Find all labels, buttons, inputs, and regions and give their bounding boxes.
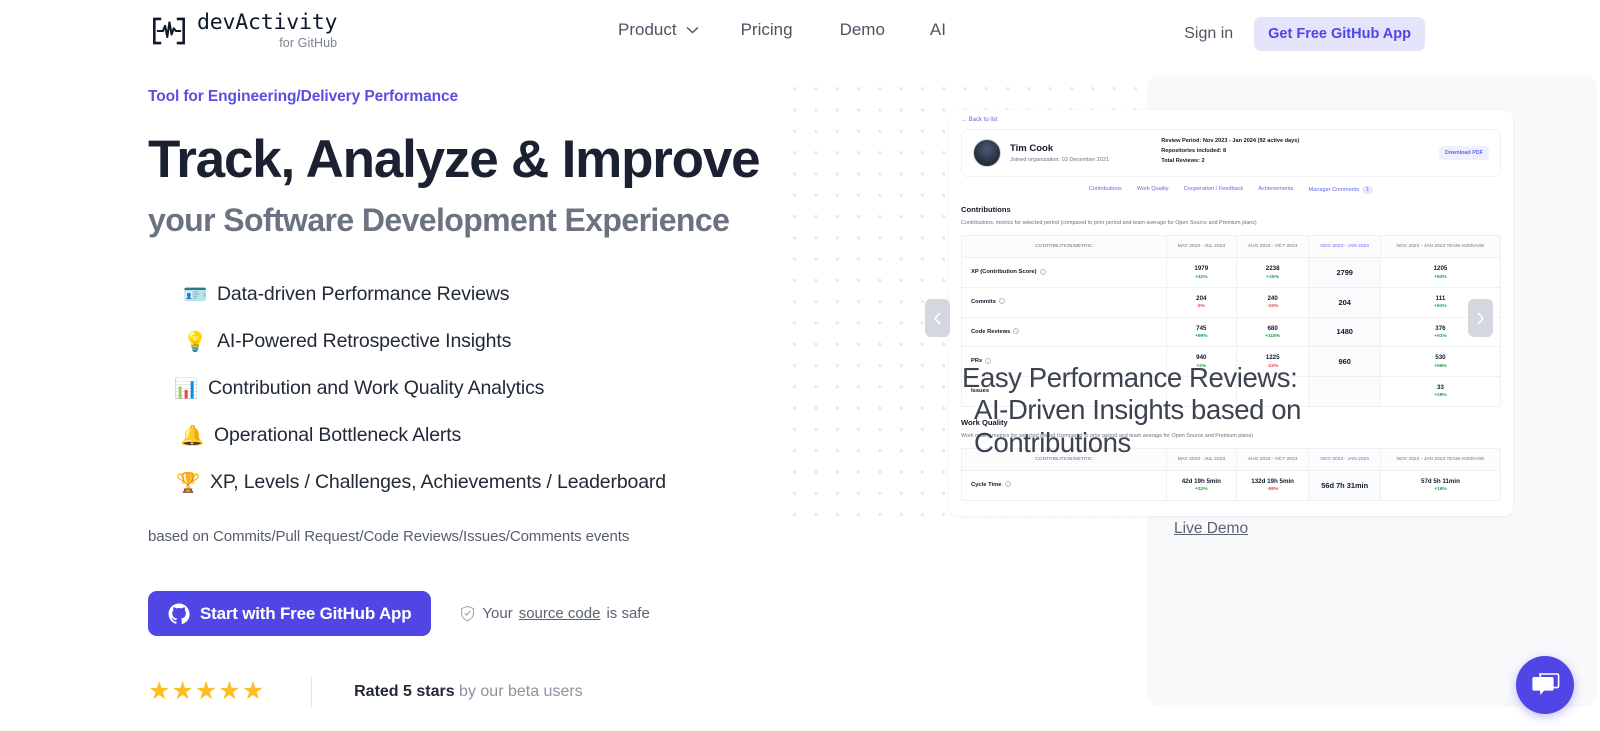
table-row: Issues 33+28% xyxy=(962,376,1501,406)
logo-name: devActivity xyxy=(197,12,337,34)
cell-team-avg: 530+56% xyxy=(1380,347,1500,377)
chevron-down-icon xyxy=(686,26,699,34)
cell-period-1: 42d 19h 5min+32% xyxy=(1166,471,1236,501)
cell-current xyxy=(1309,376,1380,406)
rating-text: Rated 5 stars by our beta users xyxy=(354,683,583,701)
row-metric-name: Issues xyxy=(962,376,1167,406)
table-row: Commitsi 2040% 240-15% 204 111+61% xyxy=(962,288,1501,318)
page-title: Track, Analyze & Improve xyxy=(148,132,788,188)
cell-period-2: 1225-22% xyxy=(1236,347,1309,377)
nav-label: AI xyxy=(930,20,946,40)
lightbulb-icon: 💡 xyxy=(184,330,206,354)
col-metric: CONTRIBUTION/METRIC xyxy=(962,448,1167,470)
cell-period-2: 240-15% xyxy=(1236,288,1309,318)
chat-widget-button[interactable] xyxy=(1516,656,1574,714)
row-metric-name: Code Reviewsi xyxy=(962,317,1167,347)
col-period-1: MAY 2023 - JUL 2023 xyxy=(1166,448,1236,470)
star-rating: ★ ★ ★ ★ ★ xyxy=(148,679,264,704)
profile-meta: Review Period: Nov 2023 - Jan 2024 (92 a… xyxy=(1161,138,1299,168)
demo-tabs: Contributions Work Quality Cooperation /… xyxy=(961,186,1501,194)
col-period-2: AUG 2023 - OCT 2023 xyxy=(1236,236,1309,258)
nav-item-pricing[interactable]: Pricing xyxy=(741,20,840,40)
row-metric-name: Cycle Timei xyxy=(962,471,1167,501)
col-period-current: NOV 2023 - JAN 2024 xyxy=(1309,448,1380,470)
section-title-contributions: Contributions xyxy=(961,205,1501,214)
nav-item-ai[interactable]: AI xyxy=(930,20,970,40)
profile-name: Tim Cook xyxy=(1010,143,1109,154)
landing-page: devActivity for GitHub Product Pricing D… xyxy=(0,0,1600,731)
nav-label: Pricing xyxy=(741,20,793,40)
table-row: XP (Contribution Score)i 1979+41% 2238+2… xyxy=(962,258,1501,288)
list-item: 📊 Contribution and Work Quality Analytic… xyxy=(148,365,788,412)
profile-summary: Tim Cook Joined organization: 03 Decembe… xyxy=(961,129,1501,177)
info-icon: i xyxy=(1005,481,1011,487)
profile-joined: Joined organization: 03 December 2021 xyxy=(1010,157,1109,163)
info-icon: i xyxy=(985,358,991,364)
section-description: Contributions, metrics for selected peri… xyxy=(961,220,1501,226)
cell-period-1: 745+99% xyxy=(1166,317,1236,347)
id-badge-icon: 🪪 xyxy=(184,283,206,307)
table-header-row: CONTRIBUTION/METRIC MAY 2023 - JUL 2023 … xyxy=(962,236,1501,258)
activity-pulse-icon xyxy=(150,16,188,46)
live-demo-link[interactable]: Live Demo xyxy=(1174,520,1248,538)
page-subtitle: your Software Development Experience xyxy=(148,202,788,239)
hero-content: Tool for Engineering/Delivery Performanc… xyxy=(148,88,788,707)
download-pdf-button: Download PDF xyxy=(1439,146,1489,160)
cell-current: 56d 7h 31min xyxy=(1309,471,1380,501)
star-icon: ★ xyxy=(148,679,170,704)
row-metric-name: PRsi xyxy=(962,347,1167,377)
info-icon: i xyxy=(999,298,1005,304)
nav-item-product[interactable]: Product xyxy=(618,20,741,40)
cell-period-2 xyxy=(1236,376,1309,406)
bell-alert-icon: 🔔 xyxy=(181,424,203,448)
star-icon: ★ xyxy=(242,679,264,704)
cell-period-2: 132d 19h 5min-58% xyxy=(1236,471,1309,501)
sign-in-link[interactable]: Sign in xyxy=(1184,25,1233,43)
cell-period-2: 2238+25% xyxy=(1236,258,1309,288)
cell-period-1: 940+2% xyxy=(1166,347,1236,377)
table-row: PRsi 940+2% 1225-22% 960 530+56% xyxy=(962,347,1501,377)
star-icon: ★ xyxy=(195,679,217,704)
col-metric: CONTRIBUTION/METRIC xyxy=(962,236,1167,258)
safe-prefix: Your xyxy=(482,605,512,622)
review-period: Review Period: Nov 2023 - Jan 2024 (92 a… xyxy=(1161,138,1299,144)
avatar xyxy=(973,139,1001,167)
header-actions: Sign in Get Free GitHub App xyxy=(1184,17,1425,51)
start-with-free-github-app-button[interactable]: Start with Free GitHub App xyxy=(148,591,431,636)
chevron-right-icon xyxy=(1475,311,1486,326)
contributions-table: CONTRIBUTION/METRIC MAY 2023 - JUL 2023 … xyxy=(961,235,1501,407)
section2-description: Work quality metrics for selected period… xyxy=(961,433,1501,439)
logo[interactable]: devActivity for GitHub xyxy=(150,12,337,49)
list-item: 💡 AI-Powered Retrospective Insights xyxy=(148,318,788,365)
cell-current: 2799 xyxy=(1309,258,1380,288)
demo-screenshot-card[interactable]: ← Back to list Tim Cook Joined organizat… xyxy=(949,110,1513,516)
star-icon: ★ xyxy=(171,679,193,704)
nav-label: Product xyxy=(618,20,677,40)
source-code-link[interactable]: source code xyxy=(519,605,601,622)
cell-current: 960 xyxy=(1309,347,1380,377)
work-quality-table: CONTRIBUTION/METRIC MAY 2023 - JUL 2023 … xyxy=(961,448,1501,501)
rating-bold: Rated 5 stars xyxy=(354,683,455,700)
divider xyxy=(311,676,312,707)
main-nav: Product Pricing Demo AI xyxy=(618,20,970,40)
tab-manager-comments: Manager Comments1 xyxy=(1308,186,1373,194)
comment-count-badge: 1 xyxy=(1362,186,1373,194)
repositories-included: Repositories included: 8 xyxy=(1161,148,1299,154)
tab-contributions: Contributions xyxy=(1089,186,1122,194)
row-metric-name: XP (Contribution Score)i xyxy=(962,258,1167,288)
cell-period-2: 680+118% xyxy=(1236,317,1309,347)
bar-chart-icon: 📊 xyxy=(175,377,197,401)
github-icon xyxy=(168,603,190,625)
feature-label: Data-driven Performance Reviews xyxy=(217,283,509,306)
tab-work-quality: Work Quality xyxy=(1137,186,1169,194)
table-row: Code Reviewsi 745+99% 680+118% 1480 376+… xyxy=(962,317,1501,347)
col-period-current: NOV 2023 - JAN 2024 xyxy=(1309,236,1380,258)
cell-period-1: 2040% xyxy=(1166,288,1236,318)
cell-current: 1480 xyxy=(1309,317,1380,347)
chat-bubble-icon xyxy=(1530,671,1560,699)
safe-suffix: is safe xyxy=(606,605,649,622)
star-icon: ★ xyxy=(218,679,240,704)
list-item: 🔔 Operational Bottleneck Alerts xyxy=(148,412,788,459)
table-row: Cycle Timei 42d 19h 5min+32% 132d 19h 5m… xyxy=(962,471,1501,501)
col-team-average: NOV 2023 - JAN 2024 TEAM AVERAGE xyxy=(1380,448,1500,470)
carousel-prev-button[interactable] xyxy=(925,299,950,337)
nav-item-demo[interactable]: Demo xyxy=(840,20,930,40)
trophy-icon: 🏆 xyxy=(177,471,199,495)
cta-row: Start with Free GitHub App Your source c… xyxy=(148,591,788,636)
row-metric-name: Commitsi xyxy=(962,288,1167,318)
feature-label: Operational Bottleneck Alerts xyxy=(214,424,461,447)
site-header: devActivity for GitHub Product Pricing D… xyxy=(0,0,1600,66)
rating-row: ★ ★ ★ ★ ★ Rated 5 stars by our beta user… xyxy=(148,676,788,707)
hero-eyebrow: Tool for Engineering/Delivery Performanc… xyxy=(148,88,788,106)
cell-team-avg: 57d 5h 11min+16% xyxy=(1380,471,1500,501)
cell-period-1 xyxy=(1166,376,1236,406)
info-icon: i xyxy=(1040,269,1046,275)
chevron-left-icon xyxy=(932,311,943,326)
total-reviews: Total Reviews: 2 xyxy=(1161,158,1299,164)
col-team-average: NOV 2023 - JAN 2024 TEAM AVERAGE xyxy=(1380,236,1500,258)
tab-cooperation-feedback: Cooperation / Feedback xyxy=(1184,186,1244,194)
table-header-row: CONTRIBUTION/METRIC MAY 2023 - JUL 2023 … xyxy=(962,448,1501,470)
source-code-safe-note: Your source code is safe xyxy=(459,605,649,622)
col-period-2: AUG 2023 - OCT 2023 xyxy=(1236,448,1309,470)
info-icon: i xyxy=(1013,328,1019,334)
carousel-next-button[interactable] xyxy=(1468,299,1493,337)
primary-cta-label: Start with Free GitHub App xyxy=(200,604,411,624)
feature-label: Contribution and Work Quality Analytics xyxy=(208,377,544,400)
cell-team-avg: 1205+83% xyxy=(1380,258,1500,288)
cell-current: 204 xyxy=(1309,288,1380,318)
tab-achievements: Achievements xyxy=(1258,186,1293,194)
cell-team-avg: 33+28% xyxy=(1380,376,1500,406)
list-item: 🪪 Data-driven Performance Reviews xyxy=(148,271,788,318)
feature-label: AI-Powered Retrospective Insights xyxy=(217,330,511,353)
list-item: 🏆 XP, Levels / Challenges, Achievements … xyxy=(148,459,788,506)
cell-period-1: 1979+41% xyxy=(1166,258,1236,288)
section-title-work-quality: Work Quality xyxy=(961,418,1501,427)
col-period-1: MAY 2023 - JUL 2023 xyxy=(1166,236,1236,258)
rating-rest: by our beta users xyxy=(455,683,583,700)
nav-label: Demo xyxy=(840,20,885,40)
feature-label: XP, Levels / Challenges, Achievements / … xyxy=(210,471,666,494)
based-on-note: based on Commits/Pull Request/Code Revie… xyxy=(148,528,788,545)
back-to-list-link: ← Back to list xyxy=(961,117,1501,123)
logo-subtitle: for GitHub xyxy=(197,37,337,50)
feature-list: 🪪 Data-driven Performance Reviews 💡 AI-P… xyxy=(148,271,788,506)
get-free-github-app-button[interactable]: Get Free GitHub App xyxy=(1254,17,1425,51)
shield-check-icon xyxy=(459,605,476,622)
